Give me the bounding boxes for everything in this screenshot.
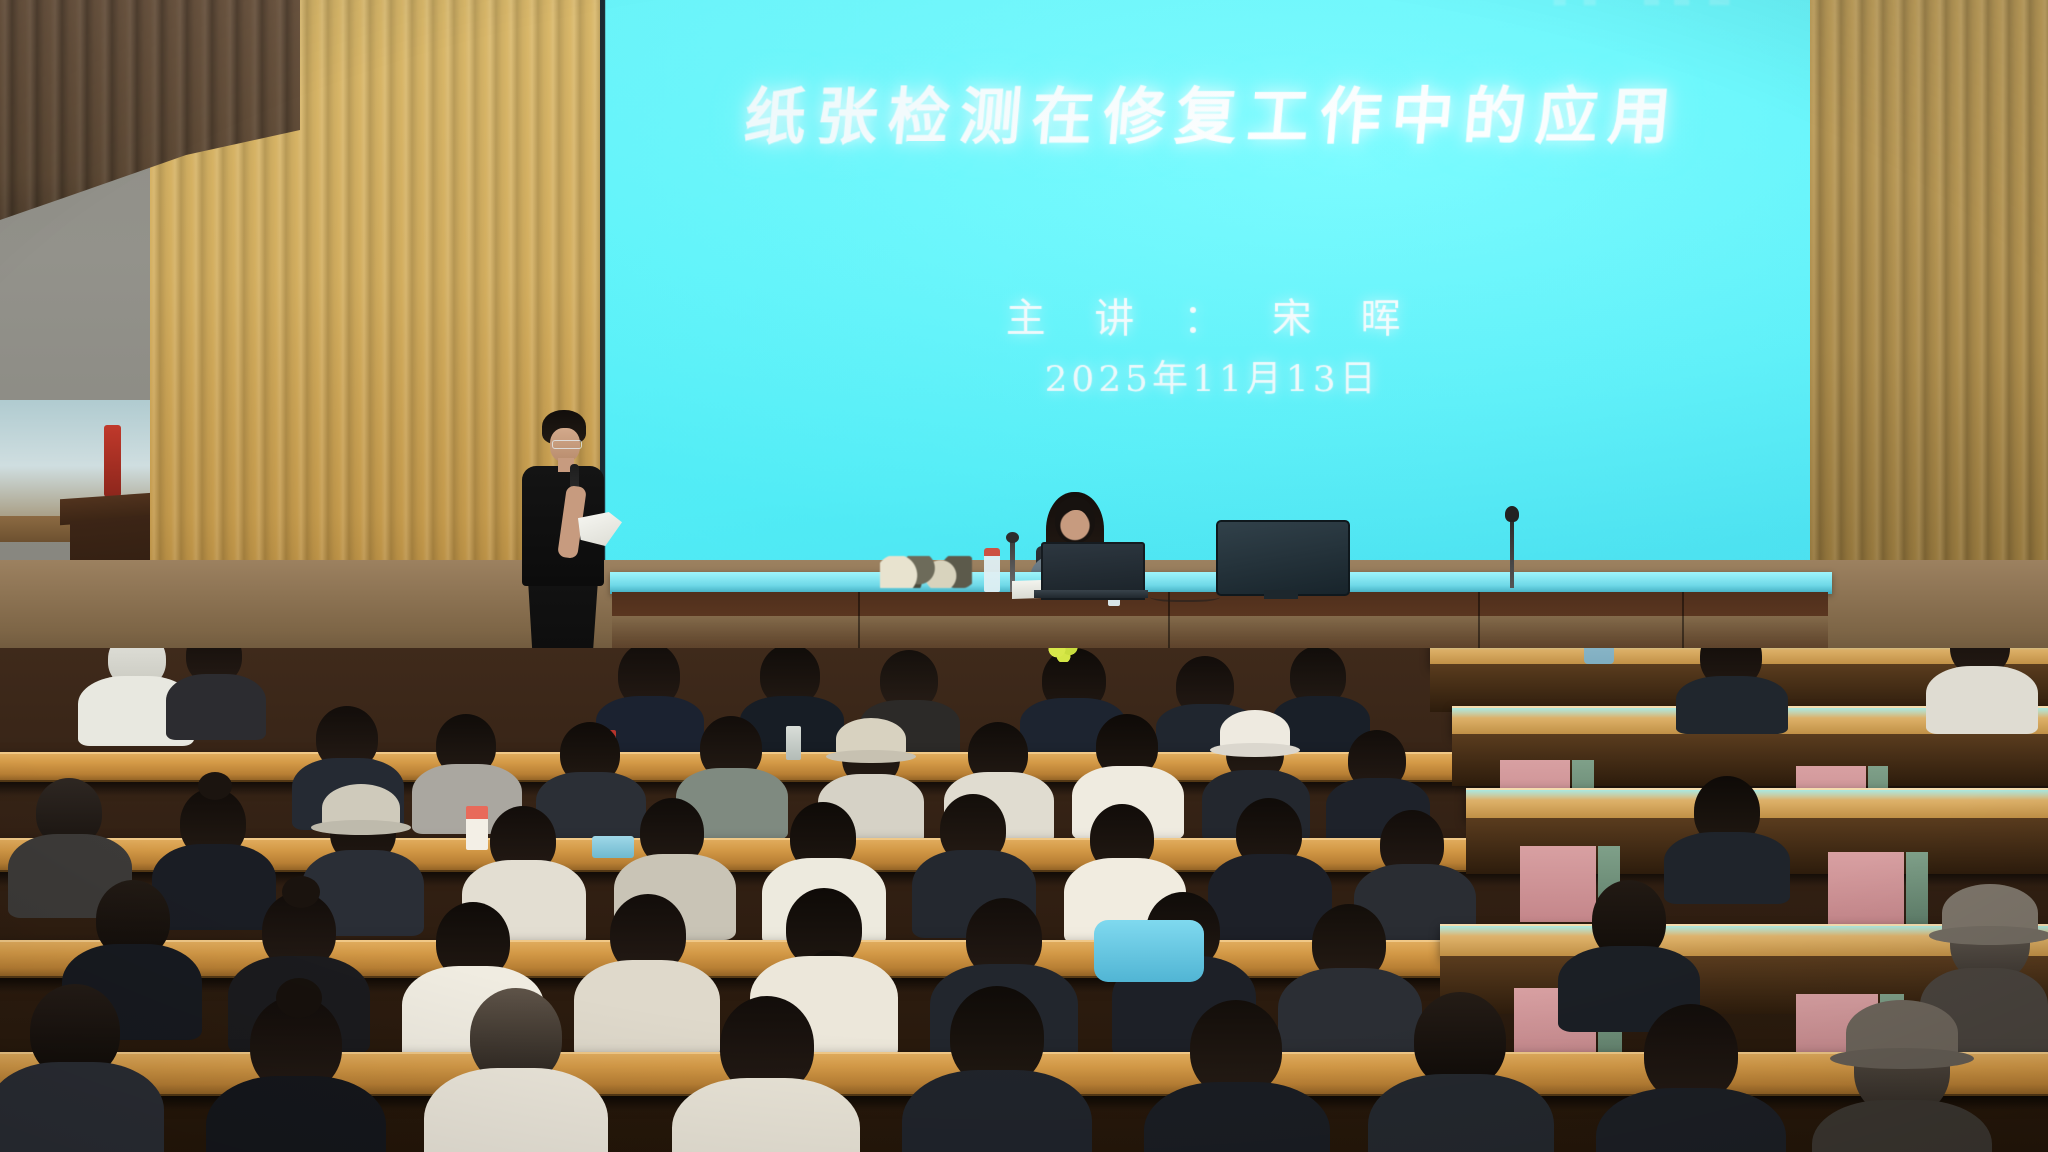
audience-body	[0, 1062, 164, 1152]
cap-icon	[836, 718, 906, 760]
monitor-icon	[1216, 520, 1350, 596]
seat-back	[1520, 846, 1596, 922]
moderator-face	[1064, 510, 1088, 538]
stage-curtain-right	[1810, 0, 2048, 640]
audience-seating-area	[0, 648, 2048, 1152]
audience-body	[902, 1070, 1092, 1152]
seat-divider	[1906, 852, 1928, 926]
audience-body	[1144, 1082, 1330, 1152]
audience-body	[1368, 1074, 1554, 1152]
drink-cup-icon	[466, 806, 488, 850]
flower-arrangement-icon	[880, 556, 972, 588]
hair-clip-icon	[1048, 648, 1078, 662]
audience-body	[1596, 1088, 1786, 1152]
phone-icon	[592, 836, 634, 858]
slide-title: 纸张检测在修复工作中的应用	[601, 65, 1827, 156]
cable	[1150, 590, 1220, 602]
monitor-stand	[1264, 590, 1298, 599]
boom-microphone-icon	[1510, 518, 1514, 588]
cap-icon	[322, 784, 400, 832]
audience-body	[206, 1076, 386, 1152]
seat-back	[1828, 852, 1904, 926]
lecture-hall-photo: 纸张检测在修复工作中的应用 主 讲 ： 宋 晖 2025年11月13日	[0, 0, 2048, 1152]
projection-screen: 纸张检测在修复工作中的应用 主 讲 ： 宋 晖 2025年11月13日	[598, 0, 1829, 578]
hair-bun	[198, 772, 232, 800]
fire-extinguisher-icon	[104, 425, 121, 497]
thermos-icon	[1584, 648, 1614, 664]
cap-icon	[1942, 884, 2038, 942]
water-bottle-icon	[984, 548, 1000, 592]
glasses-icon	[552, 440, 582, 449]
hair-bun	[282, 876, 320, 908]
audience-body	[1676, 676, 1788, 734]
institution-logo-icon	[1544, 0, 1795, 5]
water-bottle-icon	[786, 726, 801, 760]
backpack-icon	[1094, 920, 1204, 982]
slide-presenter-line: 主 讲 ： 宋 晖	[605, 286, 1823, 344]
audience-body	[424, 1068, 608, 1152]
cap-icon	[1846, 1000, 1958, 1066]
slide-date-line: 2025年11月13日	[605, 350, 1823, 403]
audience-body	[166, 674, 266, 740]
hair-bun	[276, 978, 322, 1018]
audience-body	[574, 960, 720, 1060]
audience-body	[1926, 666, 2038, 734]
audience-body	[152, 844, 276, 930]
audience-body	[1664, 832, 1790, 904]
laptop-base	[1034, 590, 1148, 598]
cap-icon	[1220, 710, 1290, 754]
audience-body	[672, 1078, 860, 1152]
